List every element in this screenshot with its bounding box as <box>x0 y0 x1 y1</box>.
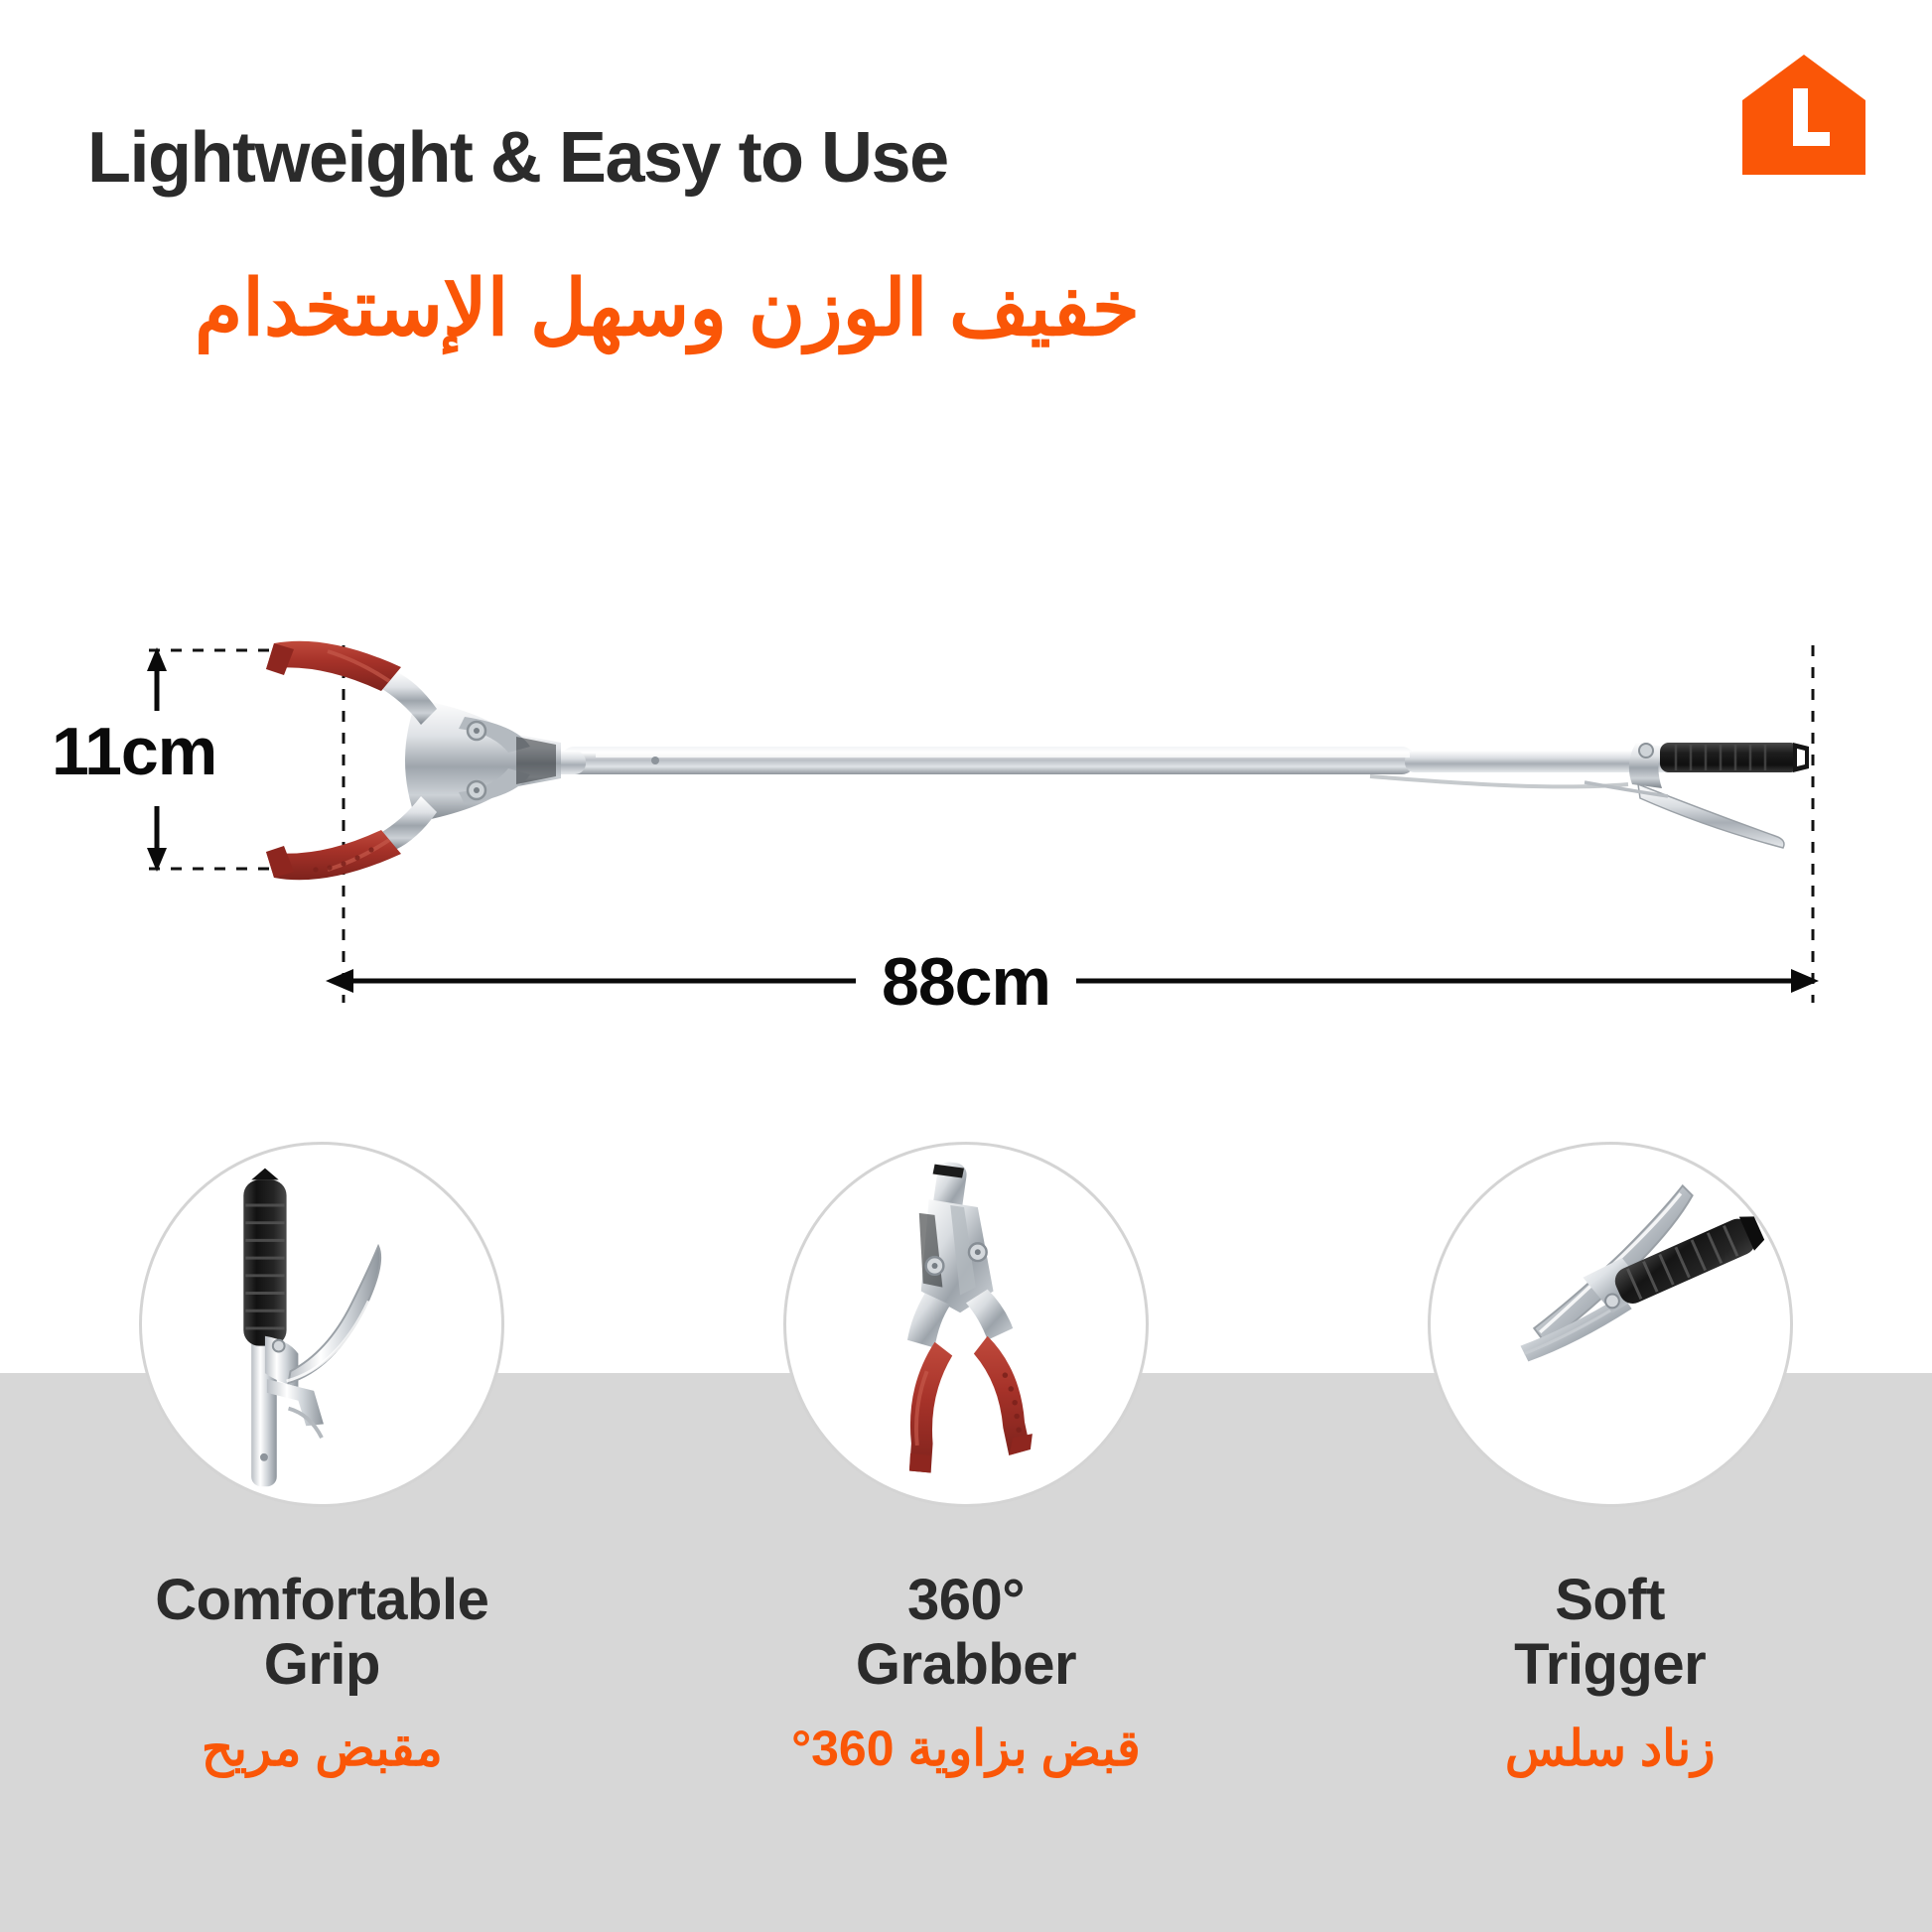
grabber-jaw-photo-icon <box>786 1142 1146 1507</box>
feature-image-circle <box>1428 1142 1793 1507</box>
brand-logo <box>1740 53 1867 177</box>
length-dimension-label: 88cm <box>0 943 1932 1021</box>
feature-comfortable-grip: Comfortable Grip مقبض مريح <box>44 1142 600 1777</box>
feature-title: 360° Grabber <box>856 1569 1076 1698</box>
length-dimension-value: 88cm <box>856 944 1076 1020</box>
feature-title-line2: Grip <box>155 1633 488 1698</box>
feature-list: Comfortable Grip مقبض مريح <box>0 1142 1932 1916</box>
handle-grip-photo-icon <box>142 1142 501 1507</box>
feature-title-arabic: قبض بزاوية 360° <box>791 1720 1141 1777</box>
feature-title-arabic: مقبض مريح <box>202 1720 443 1777</box>
feature-title: Comfortable Grip <box>155 1569 488 1698</box>
feature-soft-trigger: Soft Trigger زناد سلس <box>1332 1142 1888 1777</box>
feature-image-circle <box>783 1142 1149 1507</box>
feature-title-line1: Soft <box>1514 1569 1706 1633</box>
feature-title-line1: Comfortable <box>155 1569 488 1633</box>
height-dimension-label: 11cm <box>52 713 216 790</box>
trigger-photo-icon <box>1431 1142 1790 1507</box>
feature-title-line2: Trigger <box>1514 1633 1706 1698</box>
feature-image-circle <box>139 1142 504 1507</box>
page-subtitle-arabic: خفيف الوزن وسهل الإستخدام <box>87 263 1140 353</box>
feature-360-grabber: 360° Grabber قبض بزاوية 360° <box>688 1142 1244 1777</box>
feature-title: Soft Trigger <box>1514 1569 1706 1698</box>
feature-title-line2: Grabber <box>856 1633 1076 1698</box>
page-title: Lightweight & Easy to Use <box>87 117 948 199</box>
feature-title-arabic: زناد سلس <box>1505 1720 1716 1777</box>
house-logo-icon <box>1740 53 1867 177</box>
feature-title-line1: 360° <box>856 1569 1076 1633</box>
